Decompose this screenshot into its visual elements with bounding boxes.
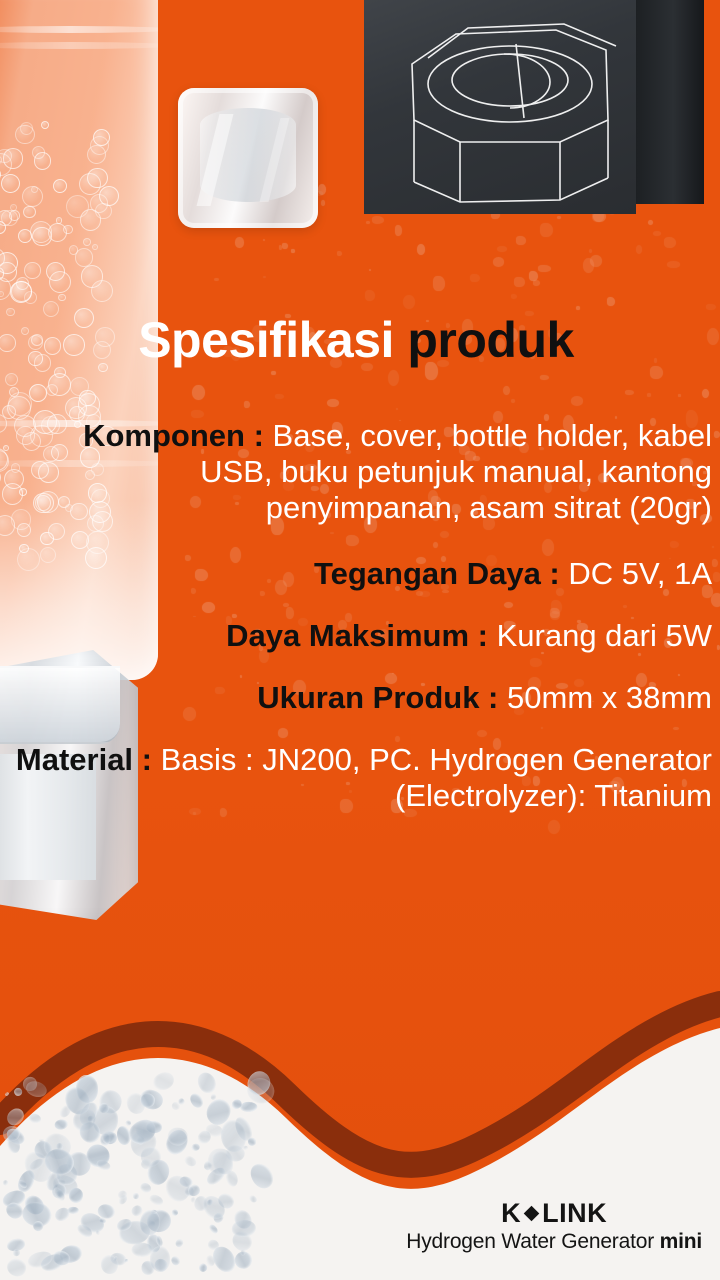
spec-value: DC 5V, 1A — [568, 556, 712, 591]
title-highlight: Spesifikasi — [138, 312, 394, 368]
spec-label: Tegangan Daya : — [314, 556, 560, 591]
logo-wordmark: K LINK — [406, 1200, 702, 1227]
page-title: Spesifikasi produk — [0, 315, 712, 365]
spec-value: 50mm x 38mm — [507, 680, 712, 715]
specification-list: Komponen : Base, cover, bottle holder, k… — [6, 418, 712, 840]
spec-row-ukuran-produk: Ukuran Produk : 50mm x 38mm — [6, 680, 712, 716]
box-line-art-icon — [364, 0, 704, 214]
spec-row-daya-maksimum: Daya Maksimum : Kurang dari 5W — [6, 618, 712, 654]
spec-label: Material : — [16, 742, 152, 777]
tagline-text: Hydrogen Water Generator — [406, 1230, 654, 1253]
tagline-emphasis: mini — [660, 1230, 702, 1253]
spec-label: Ukuran Produk : — [257, 680, 498, 715]
spec-value: Kurang dari 5W — [497, 618, 712, 653]
brand-logo: K LINK Hydrogen Water Generator mini — [406, 1200, 702, 1252]
spec-row-tegangan-daya: Tegangan Daya : DC 5V, 1A — [6, 556, 712, 592]
title-emphasis: produk — [407, 312, 573, 368]
product-box-image — [364, 0, 704, 214]
product-tagline: Hydrogen Water Generator mini — [406, 1231, 702, 1252]
spec-label: Daya Maksimum : — [226, 618, 488, 653]
spec-row-komponen: Komponen : Base, cover, bottle holder, k… — [6, 418, 712, 526]
diamond-icon — [524, 1206, 540, 1222]
spec-label: Komponen : — [83, 418, 264, 453]
logo-letter-k: K — [501, 1200, 521, 1227]
clear-cover-image — [178, 88, 318, 228]
spec-value: Basis : JN200, PC. Hydrogen Generator (E… — [161, 742, 712, 813]
logo-word-link: LINK — [542, 1200, 607, 1227]
product-spec-poster: Spesifikasi produk Komponen : Base, cove… — [0, 0, 720, 1280]
spec-value: Base, cover, bottle holder, kabel USB, b… — [200, 418, 712, 525]
spec-row-material: Material : Basis : JN200, PC. Hydrogen G… — [6, 742, 712, 814]
